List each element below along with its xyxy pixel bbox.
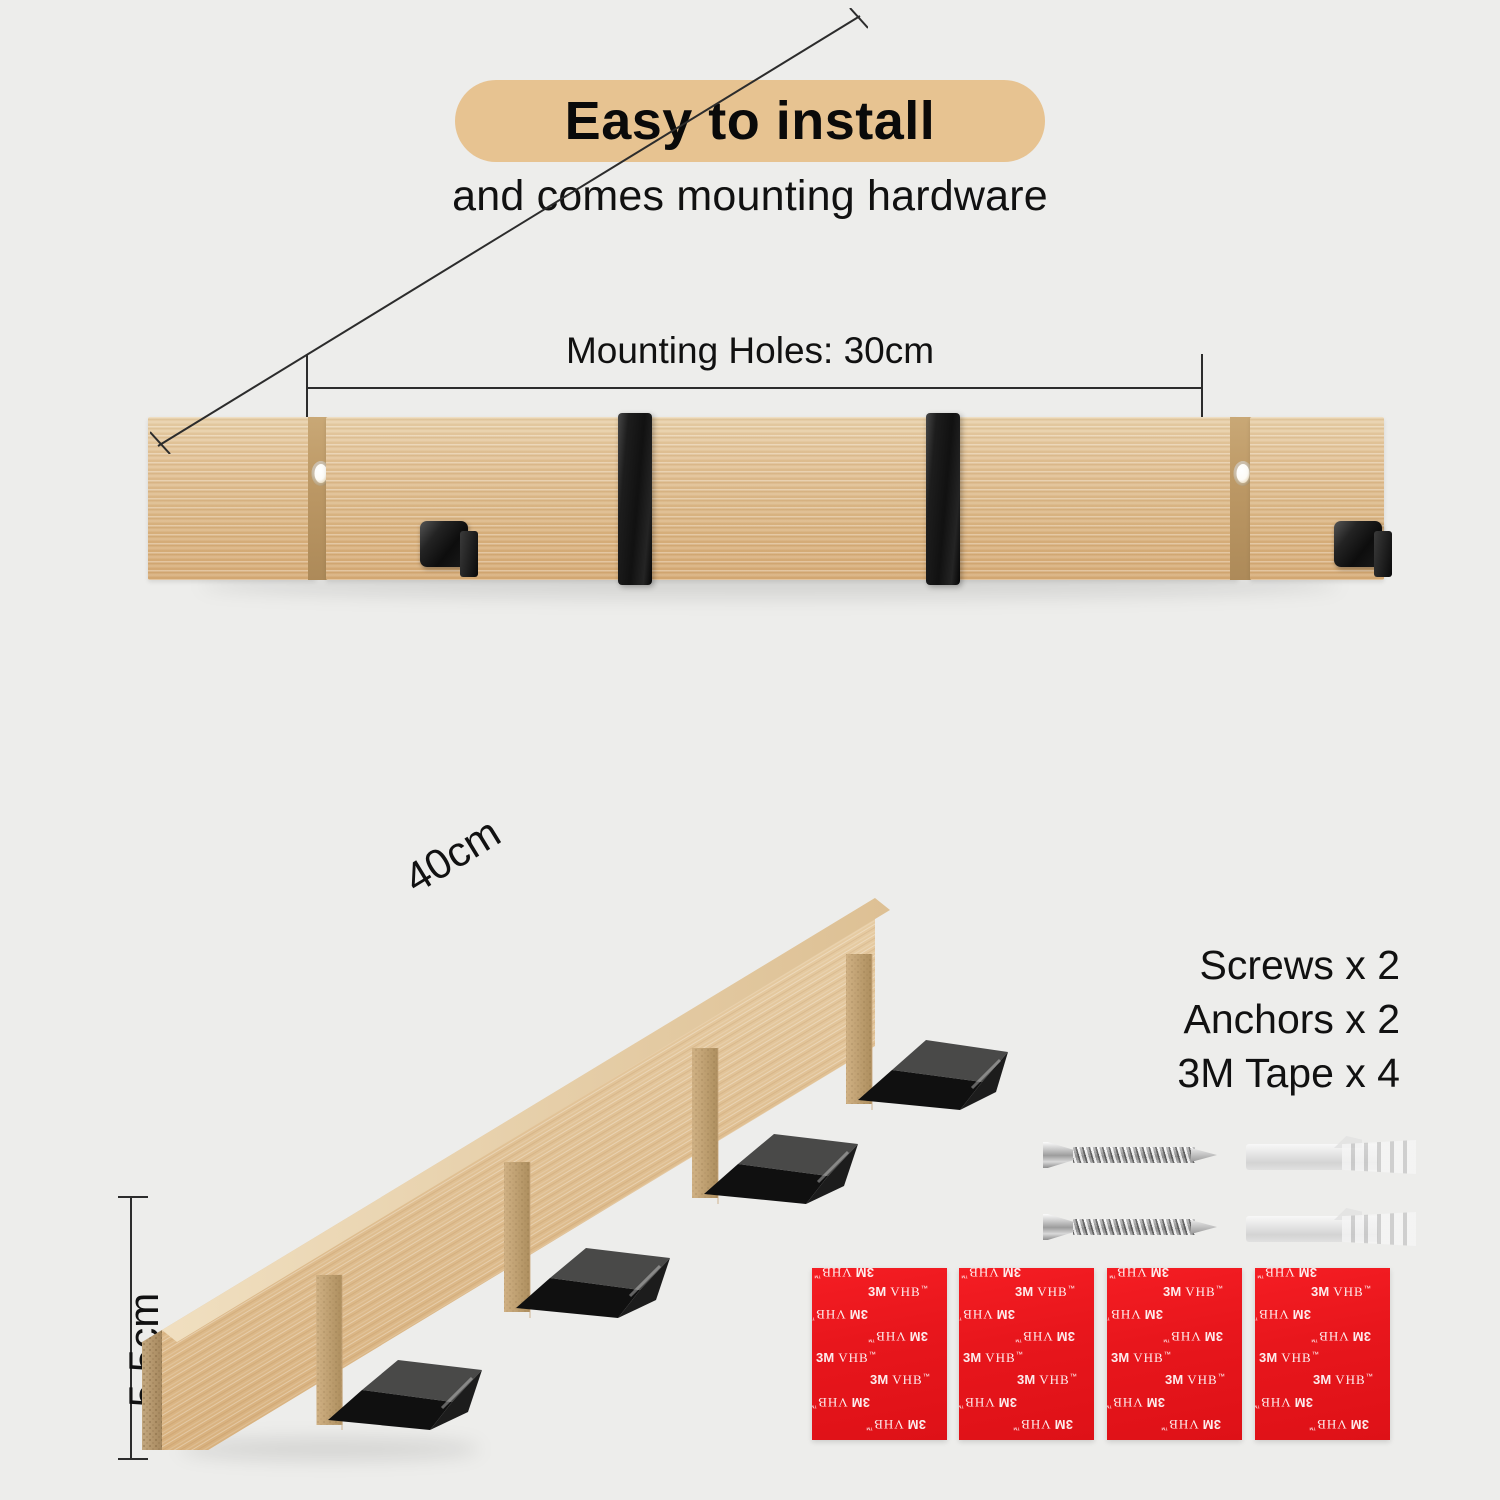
tape-square-1: 3M VHB™3M VHB™3M VHB™3M VHB™3M VHB™3M VH… xyxy=(812,1268,947,1440)
tape-watermark: 3M VHB™ xyxy=(1111,1350,1171,1366)
tape-watermark: 3M VHB™ xyxy=(866,1416,926,1432)
length-dimension-line xyxy=(150,8,868,454)
anchor-ribs xyxy=(1342,1140,1416,1174)
screw-1 xyxy=(1043,1142,1219,1168)
wall-anchor-1 xyxy=(1246,1140,1416,1174)
hardware-list: Screws x 2 Anchors x 2 3M Tape x 4 xyxy=(980,938,1400,1100)
tape-watermark: 3M VHB™ xyxy=(812,1394,870,1410)
tape-watermark: 3M VHB™ xyxy=(959,1394,1017,1410)
screw-thread xyxy=(1073,1219,1195,1235)
hardware-item-tape: 3M Tape x 4 xyxy=(980,1046,1400,1100)
tape-watermark: 3M VHB™ xyxy=(1161,1416,1221,1432)
tape-watermark: 3M VHB™ xyxy=(1255,1306,1311,1322)
tape-watermark: 3M VHB™ xyxy=(1257,1268,1317,1280)
screw-point xyxy=(1191,1220,1217,1234)
tape-watermark: 3M VHB™ xyxy=(1259,1350,1319,1366)
tape-watermark: 3M VHB™ xyxy=(1311,1284,1371,1300)
tape-square-4: 3M VHB™3M VHB™3M VHB™3M VHB™3M VHB™3M VH… xyxy=(1255,1268,1390,1440)
tape-watermark: 3M VHB™ xyxy=(1163,1328,1223,1344)
hook-tail xyxy=(1374,531,1392,577)
hook-3d-3 xyxy=(704,1134,858,1204)
screw-thread xyxy=(1073,1147,1195,1163)
screw-head xyxy=(1043,1142,1077,1168)
product-infographic: Easy to install and comes mounting hardw… xyxy=(0,0,1500,1500)
hook-3d-2 xyxy=(516,1248,670,1318)
tape-watermark: 3M VHB™ xyxy=(868,1328,928,1344)
tape-watermark: 3M VHB™ xyxy=(868,1284,928,1300)
rail-endcap-texture xyxy=(142,1330,162,1450)
tape-watermark: 3M VHB™ xyxy=(1107,1306,1163,1322)
tape-watermark: 3M VHB™ xyxy=(812,1306,868,1322)
hook-3d-1 xyxy=(328,1360,482,1430)
screw-2 xyxy=(1043,1214,1219,1240)
tape-watermark: 3M VHB™ xyxy=(1309,1416,1369,1432)
tape-squares-row: 3M VHB™3M VHB™3M VHB™3M VHB™3M VHB™3M VH… xyxy=(812,1268,1392,1443)
tape-square-3: 3M VHB™3M VHB™3M VHB™3M VHB™3M VHB™3M VH… xyxy=(1107,1268,1242,1440)
tape-watermark: 3M VHB™ xyxy=(870,1372,930,1388)
tape-watermark: 3M VHB™ xyxy=(959,1306,1015,1322)
dimension-tick-bottom xyxy=(118,1458,148,1460)
tape-watermark: 3M VHB™ xyxy=(1107,1394,1165,1410)
tape-watermark: 3M VHB™ xyxy=(1255,1394,1313,1410)
deployed-hook-left xyxy=(420,521,476,577)
tape-watermark: 3M VHB™ xyxy=(1015,1284,1075,1300)
tape-watermark: 3M VHB™ xyxy=(1313,1372,1373,1388)
length-dimension xyxy=(150,8,870,478)
tape-watermark: 3M VHB™ xyxy=(816,1350,876,1366)
rack-panel-4 xyxy=(942,417,1238,580)
tape-watermark: 3M VHB™ xyxy=(1015,1328,1075,1344)
tape-watermark: 3M VHB™ xyxy=(1165,1372,1225,1388)
tape-watermark: 3M VHB™ xyxy=(963,1350,1023,1366)
tape-watermark: 3M VHB™ xyxy=(1017,1372,1077,1388)
wall-anchor-2 xyxy=(1246,1212,1416,1246)
hook-tail xyxy=(460,531,478,577)
tape-watermark: 3M VHB™ xyxy=(1109,1268,1169,1280)
tape-watermark: 3M VHB™ xyxy=(814,1268,874,1280)
folded-hook-strip-2 xyxy=(926,413,960,585)
tape-square-2: 3M VHB™3M VHB™3M VHB™3M VHB™3M VHB™3M VH… xyxy=(959,1268,1094,1440)
hardware-item-screws: Screws x 2 xyxy=(980,938,1400,992)
hardware-item-anchors: Anchors x 2 xyxy=(980,992,1400,1046)
screw-head xyxy=(1043,1214,1077,1240)
anchor-ribs xyxy=(1342,1212,1416,1246)
deployed-hook-right xyxy=(1334,521,1390,577)
tape-watermark: 3M VHB™ xyxy=(1311,1328,1371,1344)
tape-watermark: 3M VHB™ xyxy=(961,1268,1021,1280)
tape-watermark: 3M VHB™ xyxy=(1013,1416,1073,1432)
tape-watermark: 3M VHB™ xyxy=(1163,1284,1223,1300)
screw-point xyxy=(1191,1148,1217,1162)
